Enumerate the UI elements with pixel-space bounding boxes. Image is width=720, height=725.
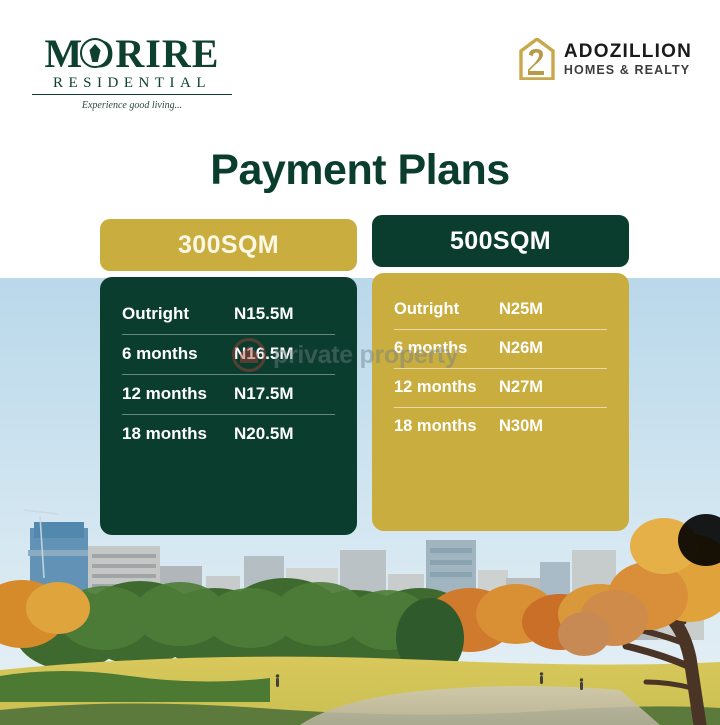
- plan-row: 6 months N16.5M: [122, 335, 335, 374]
- plan-size-header: 300SQM: [100, 219, 357, 271]
- plan-price: N16.5M: [234, 344, 294, 364]
- plan-rows: Outright N15.5M 6 months N16.5M 12 month…: [100, 277, 357, 535]
- plan-price: N20.5M: [234, 424, 294, 444]
- plan-term: Outright: [394, 300, 499, 319]
- plan-term: 6 months: [394, 339, 499, 358]
- plan-price: N15.5M: [234, 304, 294, 324]
- plan-rows: Outright N25M 6 months N26M 12 months N2…: [372, 273, 629, 531]
- adozillion-subtitle: HOMES & REALTY: [564, 64, 692, 77]
- plan-term: 18 months: [394, 417, 499, 436]
- plan-price: N17.5M: [234, 384, 294, 404]
- plan-row: Outright N25M: [394, 291, 607, 329]
- page-title: Payment Plans: [0, 146, 720, 195]
- plan-row: 18 months N30M: [394, 408, 607, 446]
- morire-name: MORIRE: [45, 31, 220, 76]
- plan-term: 12 months: [394, 378, 499, 397]
- plan-price: N25M: [499, 300, 543, 319]
- plan-price: N26M: [499, 339, 543, 358]
- plan-row: 12 months N17.5M: [122, 375, 335, 414]
- plan-row: 6 months N26M: [394, 330, 607, 368]
- plan-size-header: 500SQM: [372, 215, 629, 267]
- morire-wordmark: MORIRE: [32, 34, 232, 74]
- adozillion-logo: ADOZILLION HOMES & REALTY: [519, 38, 692, 80]
- plan-term: Outright: [122, 304, 234, 324]
- plan-price: N30M: [499, 417, 543, 436]
- morire-subtitle: RESIDENTIAL: [32, 75, 232, 95]
- plan-row: 12 months N27M: [394, 369, 607, 407]
- adozillion-wordmark: ADOZILLION HOMES & REALTY: [564, 42, 692, 77]
- morire-logo: MORIRE RESIDENTIAL Experience good livin…: [32, 34, 232, 111]
- payment-plans-flyer: MORIRE RESIDENTIAL Experience good livin…: [0, 0, 720, 725]
- adozillion-name: ADOZILLION: [564, 42, 692, 61]
- plan-row: Outright N15.5M: [122, 295, 335, 334]
- plan-term: 6 months: [122, 344, 234, 364]
- morire-tagline: Experience good living...: [32, 100, 232, 111]
- house-two-icon: [519, 38, 555, 80]
- plan-term: 18 months: [122, 424, 234, 444]
- plan-term: 12 months: [122, 384, 234, 404]
- plan-card-500sqm: 500SQM Outright N25M 6 months N26M 12 mo…: [372, 215, 629, 531]
- magnifier-leaf-icon: [80, 38, 110, 68]
- plan-row: 18 months N20.5M: [122, 415, 335, 454]
- plan-card-300sqm: 300SQM Outright N15.5M 6 months N16.5M 1…: [100, 219, 357, 535]
- plan-price: N27M: [499, 378, 543, 397]
